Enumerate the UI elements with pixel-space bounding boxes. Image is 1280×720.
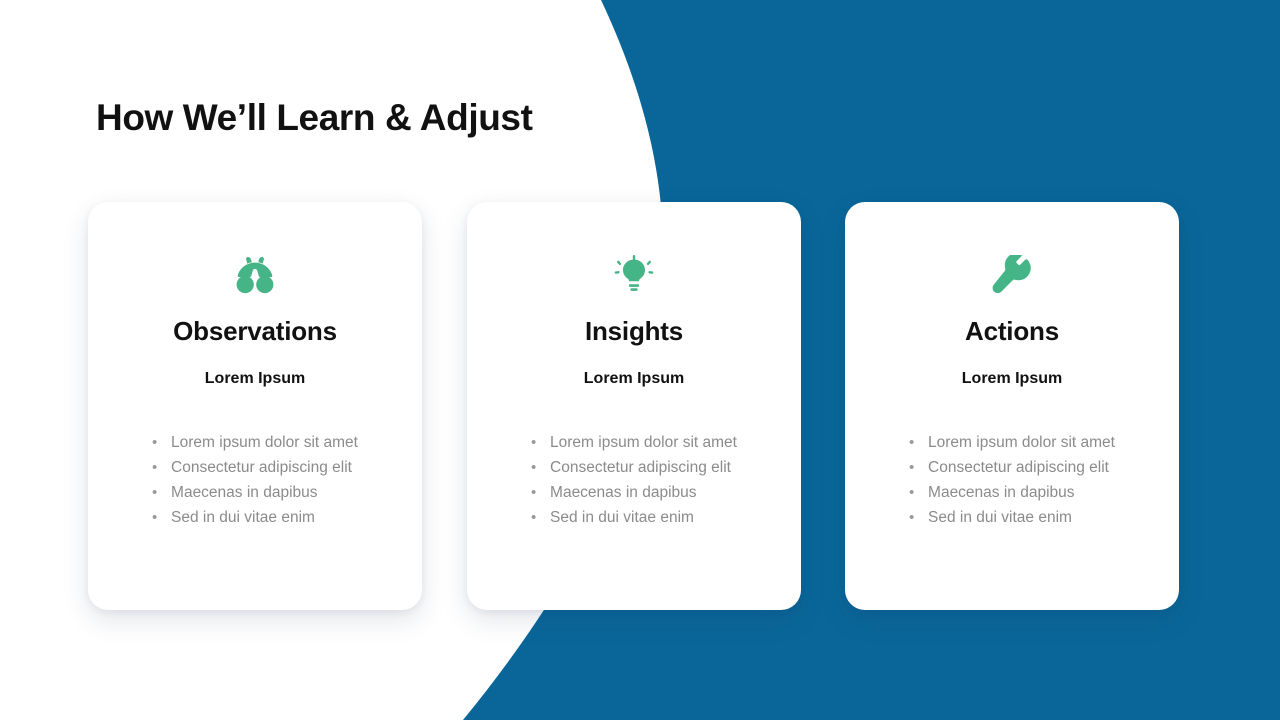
list-item: Consectetur adipiscing elit [531, 455, 737, 480]
card-title: Observations [173, 316, 337, 347]
binoculars-icon [235, 254, 275, 296]
list-item: Lorem ipsum dolor sit amet [152, 430, 358, 455]
card-title: Actions [965, 316, 1059, 347]
list-item: Consectetur adipiscing elit [152, 455, 358, 480]
slide-canvas: How We’ll Learn & Adjust Observations Lo… [0, 0, 1280, 720]
lightbulb-icon [614, 254, 654, 296]
list-item: Maecenas in dapibus [152, 480, 358, 505]
list-item: Lorem ipsum dolor sit amet [531, 430, 737, 455]
cards-row: Observations Lorem Ipsum Lorem ipsum dol… [0, 202, 1280, 610]
card-bullet-list: Lorem ipsum dolor sit amet Consectetur a… [531, 430, 737, 530]
list-item: Sed in dui vitae enim [531, 505, 737, 530]
list-item: Sed in dui vitae enim [909, 505, 1115, 530]
card-insights[interactable]: Insights Lorem Ipsum Lorem ipsum dolor s… [467, 202, 801, 610]
list-item: Lorem ipsum dolor sit amet [909, 430, 1115, 455]
list-item: Consectetur adipiscing elit [909, 455, 1115, 480]
card-subtitle: Lorem Ipsum [205, 370, 305, 388]
list-item: Maecenas in dapibus [909, 480, 1115, 505]
wrench-icon [992, 254, 1032, 296]
list-item: Sed in dui vitae enim [152, 505, 358, 530]
list-item: Maecenas in dapibus [531, 480, 737, 505]
card-bullet-list: Lorem ipsum dolor sit amet Consectetur a… [909, 430, 1115, 530]
card-observations[interactable]: Observations Lorem Ipsum Lorem ipsum dol… [88, 202, 422, 610]
card-bullet-list: Lorem ipsum dolor sit amet Consectetur a… [152, 430, 358, 530]
card-subtitle: Lorem Ipsum [962, 370, 1062, 388]
card-subtitle: Lorem Ipsum [584, 370, 684, 388]
page-title: How We’ll Learn & Adjust [96, 97, 533, 139]
card-actions[interactable]: Actions Lorem Ipsum Lorem ipsum dolor si… [845, 202, 1179, 610]
card-title: Insights [585, 316, 683, 347]
